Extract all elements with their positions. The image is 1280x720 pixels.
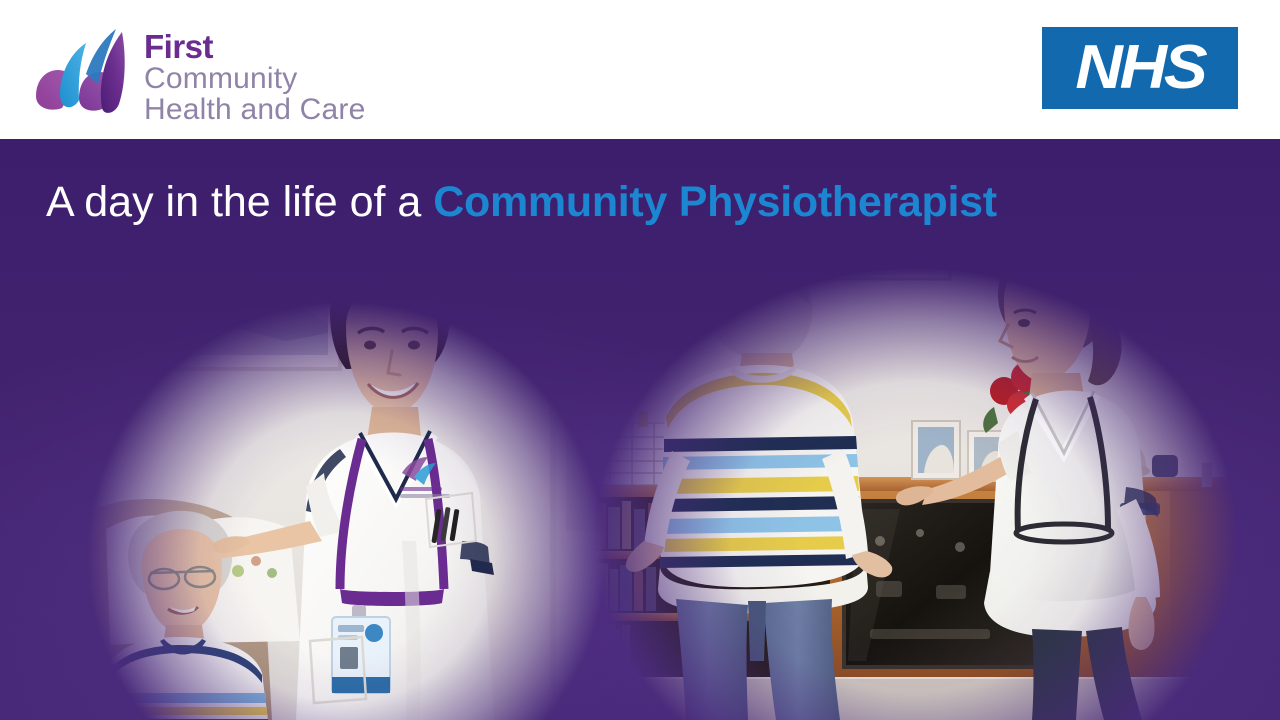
photo-physiotherapist-assisting-walking-patient [580,241,1280,720]
slide-canvas: First Community Health and Care NHS [0,0,1280,720]
first-community-health-and-care-logo: First Community Health and Care [22,22,382,122]
header-bar: First Community Health and Care NHS [0,0,1280,139]
logo-line-community: Community [144,64,394,94]
first-community-logo-wordmark: First Community Health and Care [144,22,394,122]
nhs-logo-text: NHS [1075,37,1204,99]
photo-physiotherapist-with-seated-patient [10,241,610,720]
logo-line-health-and-care: Health and Care [144,95,394,125]
page-title: A day in the life of a Community Physiot… [46,176,997,228]
logo-line-first: First [144,30,394,63]
page-title-plain-text: A day in the life of a [46,178,433,226]
first-community-swoosh-icon [22,24,138,120]
nhs-logo: NHS [1042,27,1238,109]
page-title-accent-text: Community Physiotherapist [433,178,997,226]
